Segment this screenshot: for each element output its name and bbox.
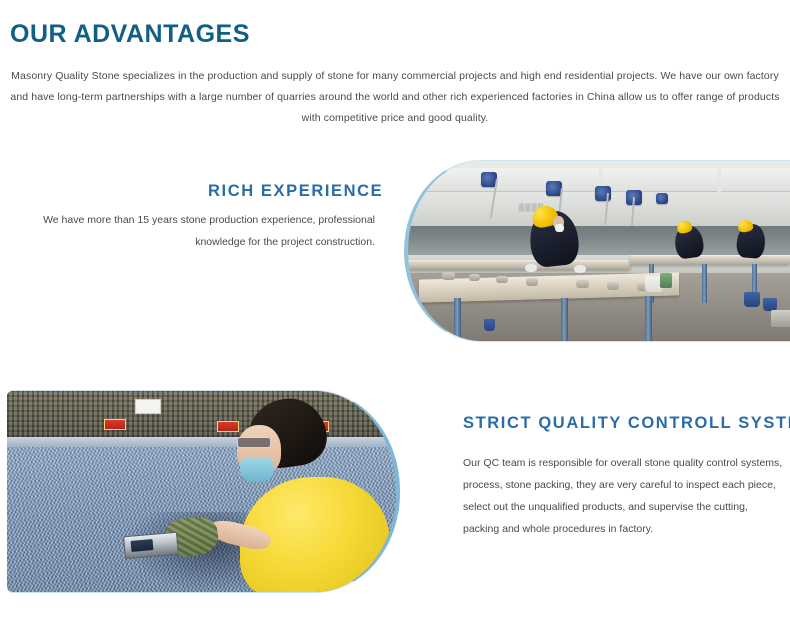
factory-green-box	[660, 273, 672, 288]
factory-bucket-blue-2	[763, 298, 777, 311]
factory-stone-chunk-3	[496, 276, 508, 283]
factory-stone-chunk-1	[442, 272, 455, 280]
quality-control-photo-inner	[7, 391, 396, 592]
factory-photo: ▒▒▒▒	[404, 160, 790, 342]
factory-bench-far-2	[630, 255, 790, 264]
factory-stone-chunk-6	[607, 282, 619, 290]
page-title: OUR ADVANTAGES	[10, 21, 250, 49]
factory-hose-reel-2	[546, 181, 562, 196]
factory-hose-reel-5	[656, 193, 668, 204]
factory-duct-mid	[603, 168, 718, 191]
qc-background-wall	[7, 391, 396, 437]
section-body-rich-experience: We have more than 15 years stone product…	[35, 209, 375, 253]
qc-white-sign	[135, 399, 161, 414]
section-title-strict-quality-controll-system: STRICT QUALITY CONTROLL SYSTEM	[463, 414, 790, 433]
section-title-rich-experience: RICH EXPERIENCE	[208, 182, 383, 201]
factory-bench-far-1	[408, 260, 630, 269]
quality-control-photo	[7, 390, 400, 593]
factory-bucket-blue-1	[744, 292, 760, 307]
intro-paragraph: Masonry Quality Stone specializes in the…	[6, 66, 784, 129]
factory-worker-1-mask	[555, 224, 564, 232]
factory-worker-1-glove-left	[525, 264, 537, 272]
qc-slab-top-ledge	[7, 437, 396, 447]
factory-stone-chunk-4	[526, 278, 538, 286]
factory-slab-leg-3	[645, 296, 652, 341]
factory-bench-leg-2	[702, 264, 707, 304]
factory-cart	[771, 310, 790, 327]
qc-red-sign-1	[104, 419, 126, 430]
factory-wall-shadow	[408, 226, 790, 255]
factory-slab-leg-2	[561, 298, 568, 341]
factory-slab-leg-1	[454, 298, 461, 341]
qc-inspector-glasses	[237, 437, 271, 448]
factory-bucket-blue-3	[484, 319, 495, 331]
factory-stone-chunk-5	[576, 280, 589, 288]
qc-red-sign-2	[217, 421, 239, 432]
factory-stone-chunk-2	[469, 274, 480, 281]
qc-inspector-face-mask	[240, 457, 274, 482]
section-body-strict-quality-controll-system: Our QC team is responsible for overall s…	[463, 452, 785, 540]
factory-photo-inner: ▒▒▒▒	[408, 161, 790, 341]
factory-duct-right	[721, 168, 790, 191]
factory-duct-left	[423, 168, 599, 191]
qc-gloss-meter-screen	[131, 539, 154, 552]
